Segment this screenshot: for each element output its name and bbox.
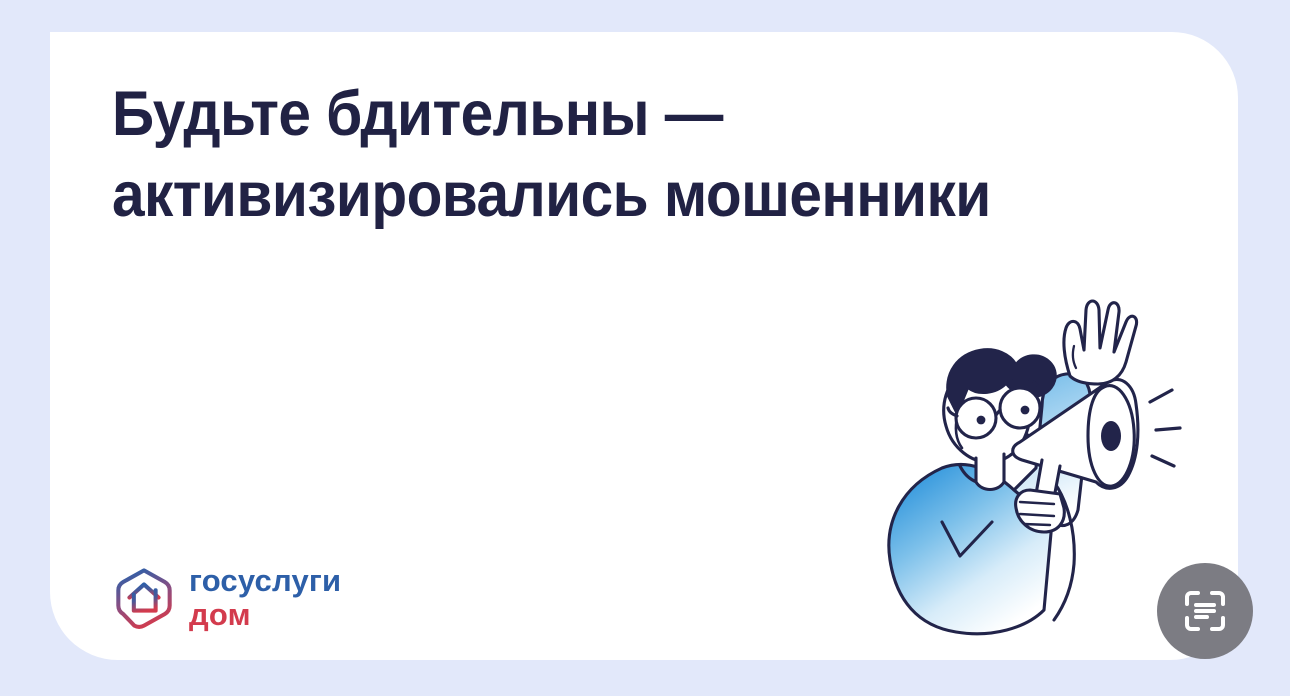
content-card: Будьте бдительны — активизировались моше… xyxy=(50,32,1238,660)
hexagon-house-icon xyxy=(113,567,175,629)
logo-text-gosuslugi: госуслуги xyxy=(189,565,341,596)
scan-document-button[interactable] xyxy=(1157,563,1253,659)
screen-root: Будьте бдительны — активизировались моше… xyxy=(0,0,1290,696)
person-with-megaphone-illustration xyxy=(864,254,1194,654)
gosuslugi-dom-logo: госуслуги дом xyxy=(113,565,341,630)
logo-wordmark: госуслуги дом xyxy=(189,565,341,630)
scan-document-icon xyxy=(1181,587,1229,635)
logo-text-dom: дом xyxy=(189,599,341,630)
page-title: Будьте бдительны — активизировались моше… xyxy=(112,74,1042,235)
